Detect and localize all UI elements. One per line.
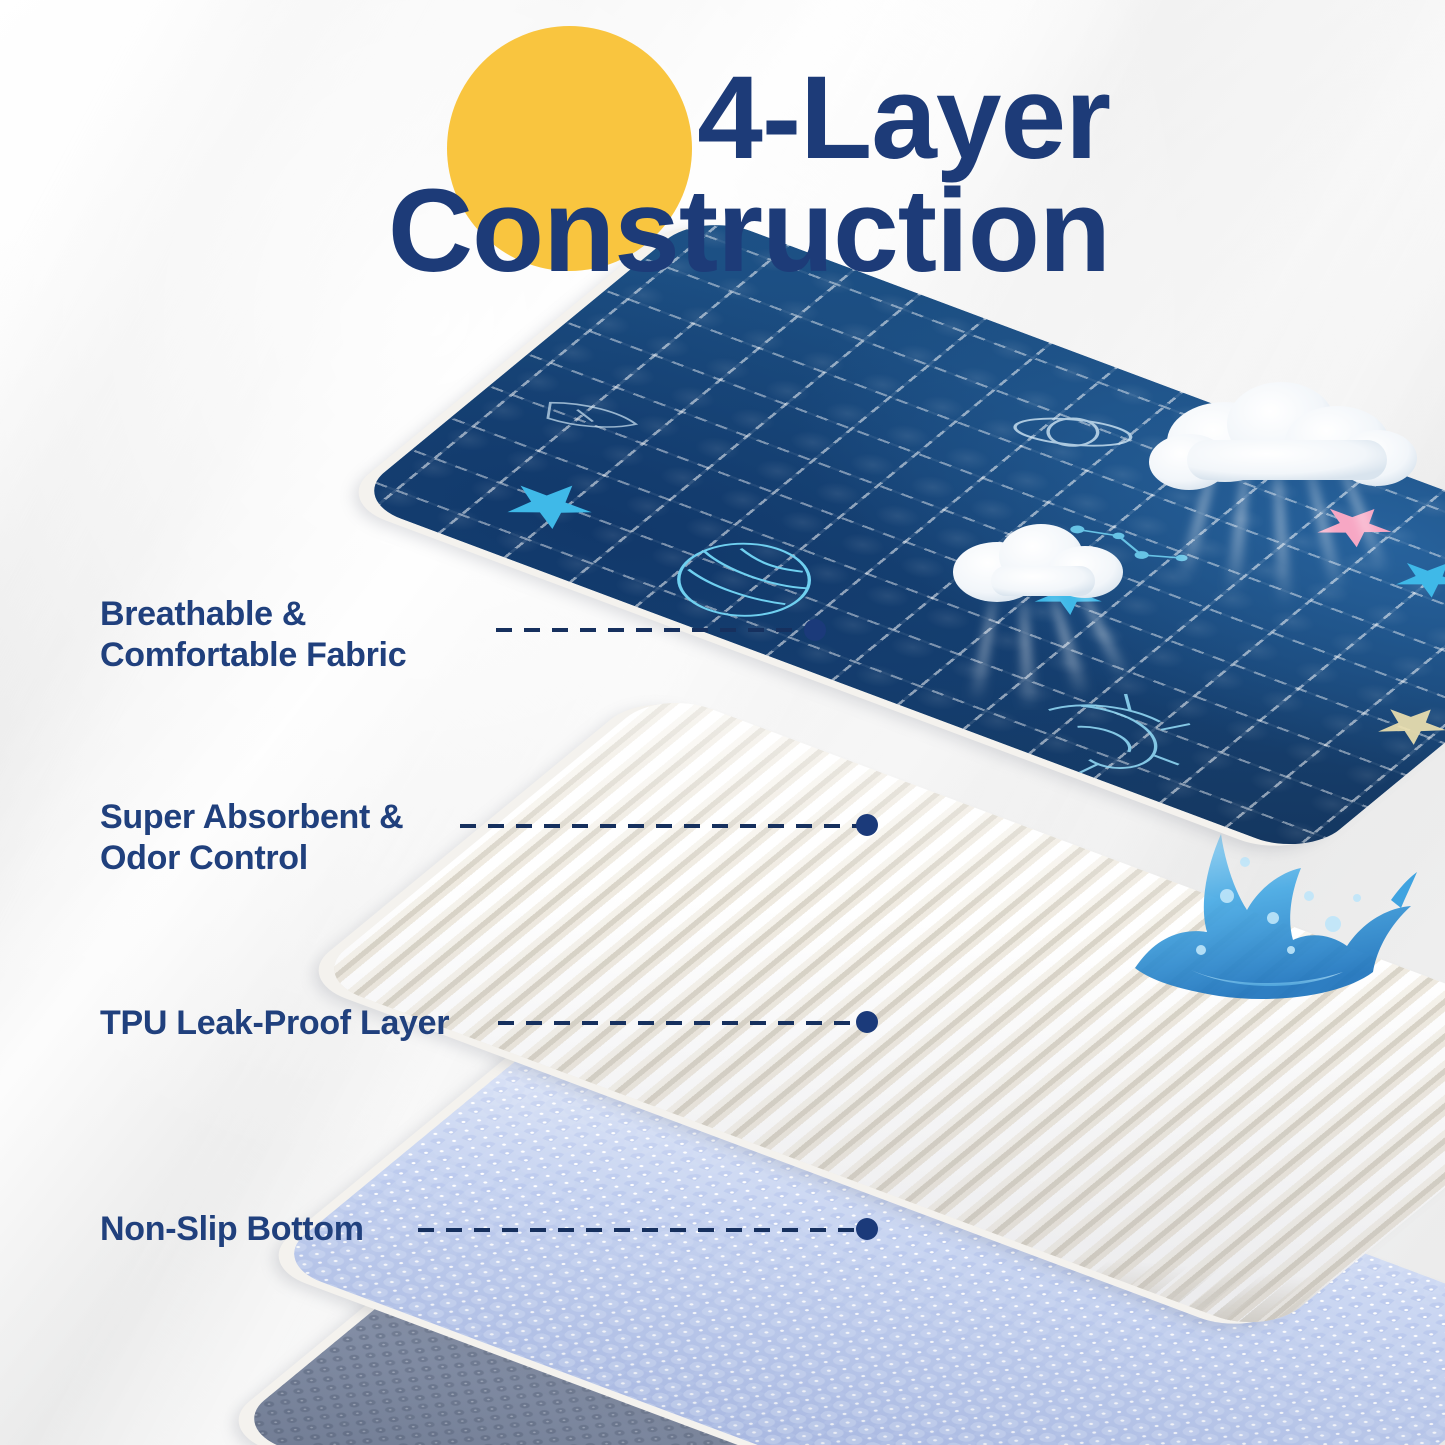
- leader-dot-breathable-fabric: [804, 619, 826, 641]
- leader-line-tpu-layer: [498, 1021, 868, 1025]
- leader-dot-non-slip-bottom: [856, 1218, 878, 1240]
- page-title: 4-Layer Construction: [0, 62, 1110, 289]
- headline-line-2: Construction: [0, 175, 1110, 288]
- callout-label-tpu-layer: TPU Leak-Proof Layer: [100, 1003, 449, 1044]
- leader-line-non-slip-bottom: [418, 1228, 868, 1232]
- callout-label-non-slip-bottom: Non-Slip Bottom: [100, 1209, 364, 1250]
- leader-dot-super-absorbent: [856, 814, 878, 836]
- infographic-canvas: 4-Layer Construction Breathable & Comfor…: [0, 0, 1445, 1445]
- callout-label-breathable-fabric: Breathable & Comfortable Fabric: [100, 594, 406, 677]
- headline-line-1: 4-Layer: [0, 62, 1110, 175]
- leader-dot-tpu-layer: [856, 1011, 878, 1033]
- leader-line-breathable-fabric: [496, 628, 816, 632]
- leader-line-super-absorbent: [460, 824, 868, 828]
- callout-label-super-absorbent: Super Absorbent & Odor Control: [100, 797, 403, 880]
